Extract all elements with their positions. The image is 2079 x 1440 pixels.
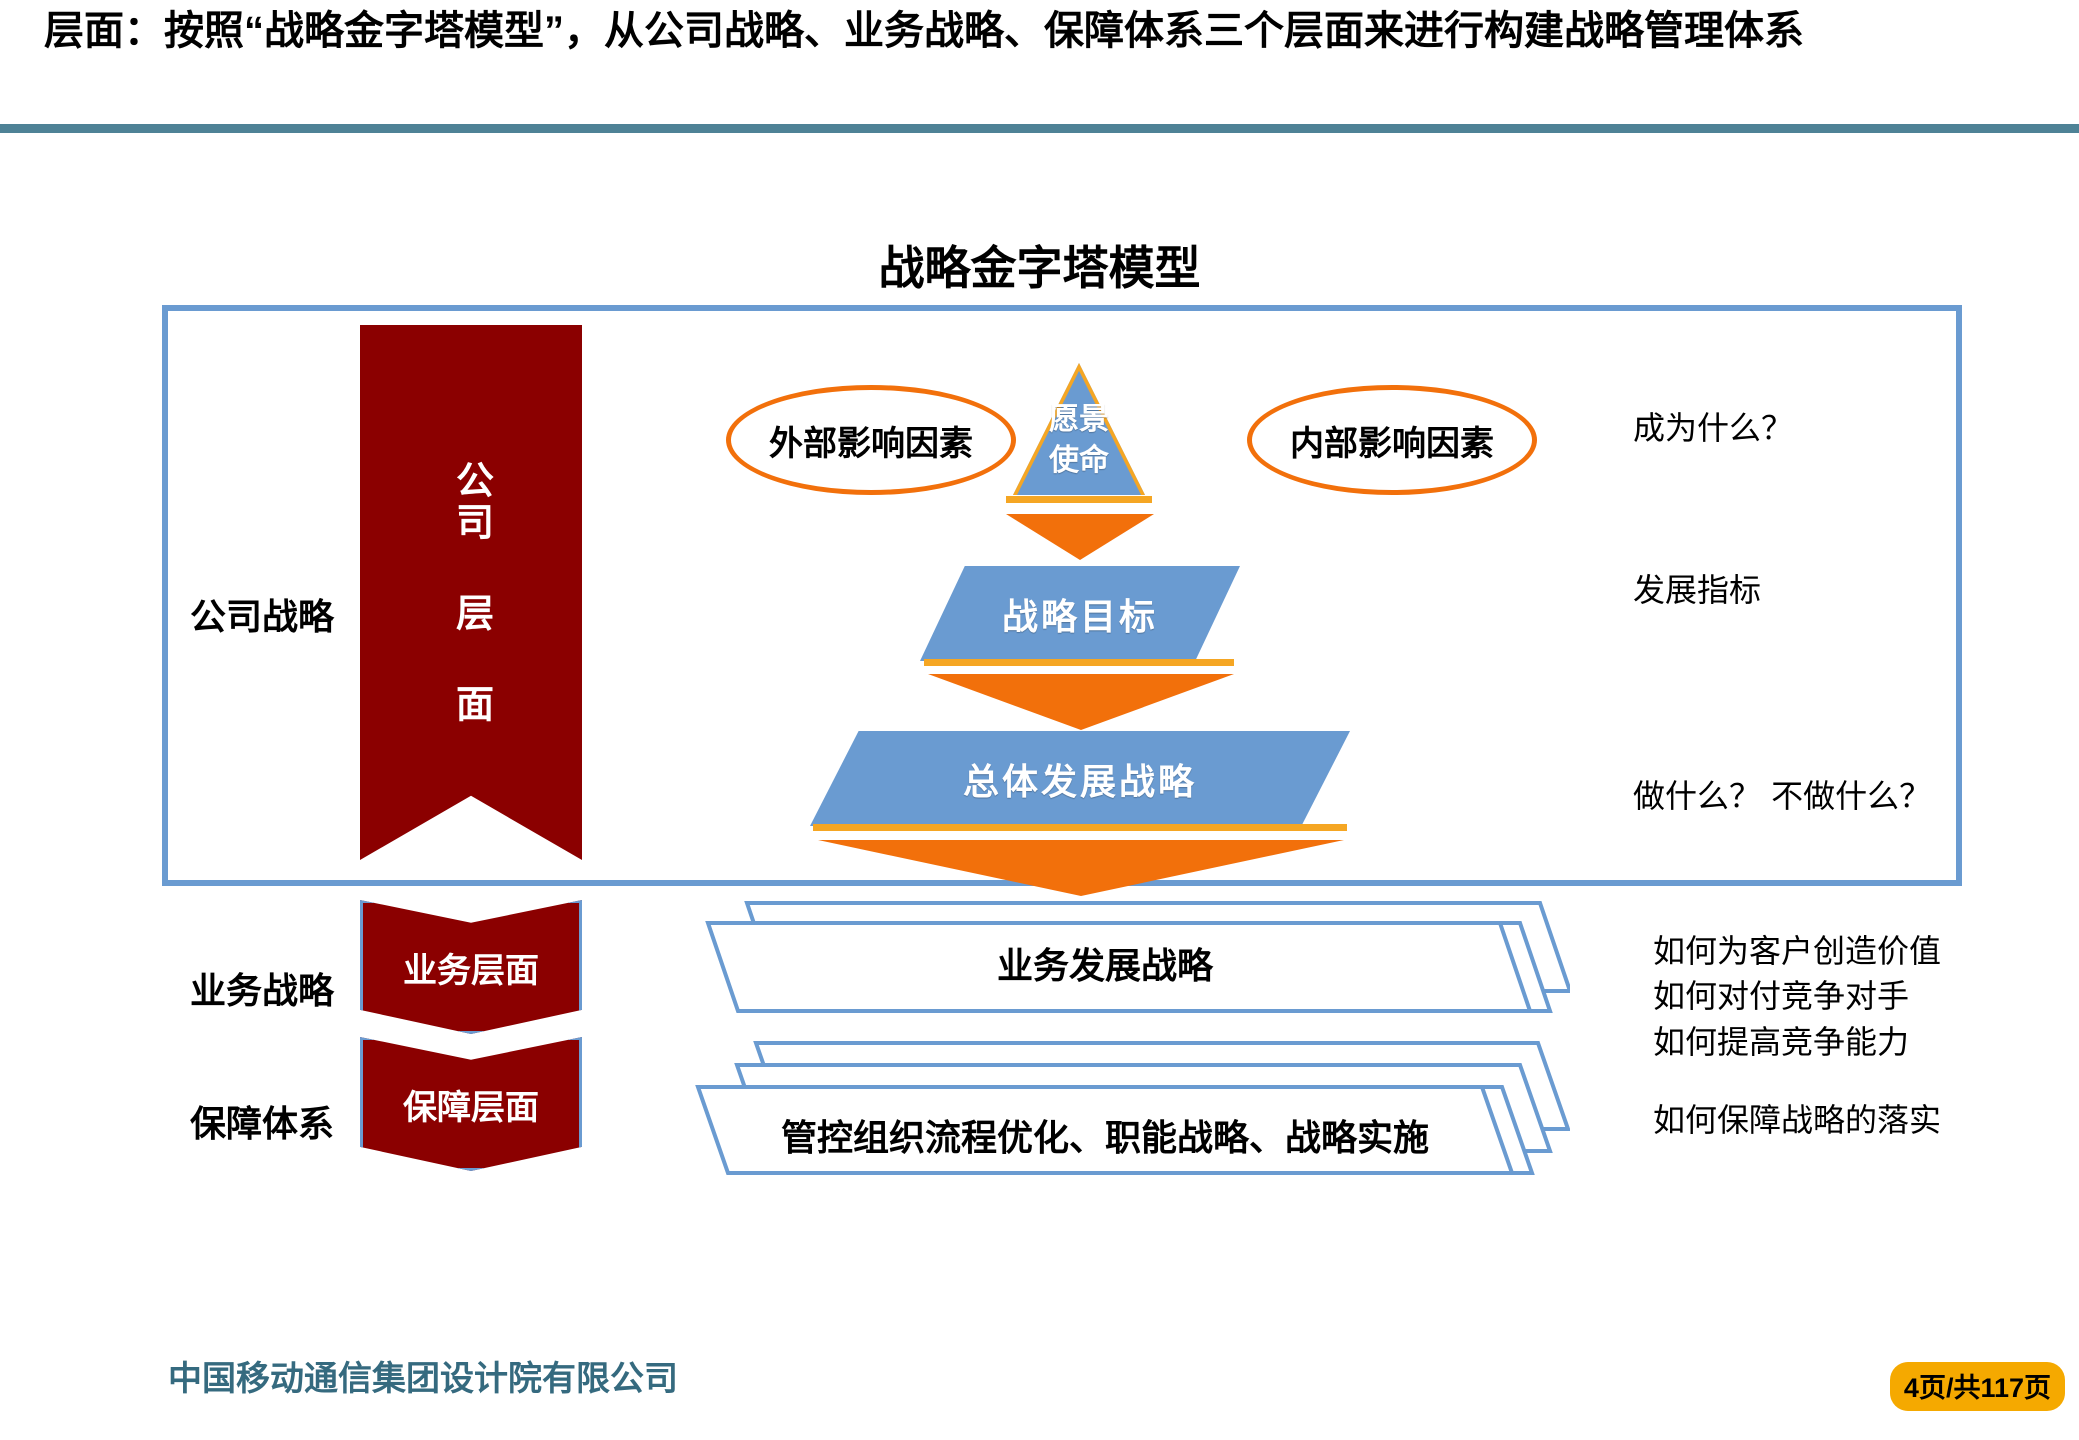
external-factors-oval: 外部影响因素 — [726, 385, 1016, 495]
business-development-strategy-label: 业务发展战略 — [640, 937, 1570, 989]
company-level-banner-label: 公司 层 面 — [360, 325, 582, 860]
business-development-strategy-stack: 业务发展战略 — [640, 893, 1570, 1021]
figure-title: 战略金字塔模型 — [0, 232, 2079, 298]
internal-factors-oval: 内部影响因素 — [1247, 385, 1537, 495]
pyramid-tier-2-base-bar — [813, 824, 1347, 831]
pyramid-apex-label: 愿景 使命 — [1013, 400, 1145, 481]
pyramid-tier-overall-development-strategy-label: 总体发展战略 — [963, 753, 1197, 805]
note-development-indicators: 发展指标 — [1633, 568, 1761, 613]
row-label-support-system: 保障体系 — [190, 1095, 334, 1147]
company-level-banner: 公司 层 面 — [360, 325, 582, 860]
support-system-strategy-stack: 管控组织流程优化、职能战略、战略实施 — [640, 1037, 1570, 1185]
pyramid-tier-strategic-goal: 战略目标 — [920, 566, 1240, 661]
support-level-chevron: 保障层面 — [360, 1037, 582, 1171]
row-label-business-strategy: 业务战略 — [190, 962, 334, 1014]
support-system-strategy-label: 管控组织流程优化、职能战略、战略实施 — [640, 1109, 1570, 1161]
page-number-badge: 4页/共117页 — [1890, 1362, 2065, 1411]
business-level-chevron: 业务层面 — [360, 900, 582, 1034]
note-become-what: 成为什么？ — [1633, 406, 1793, 451]
page-title: 层面：按照“战略金字塔模型”，从公司战略、业务战略、保障体系三个层面来进行构建战… — [44, 4, 2004, 59]
support-level-label: 保障层面 — [403, 1080, 539, 1129]
note-customer-value: 如何为客户创造价值 如何对付竞争对手 如何提高竞争能力 — [1653, 929, 1941, 1065]
note-what-to-do: 做什么？ 不做什么？ — [1633, 774, 1931, 819]
title-divider — [0, 124, 2079, 133]
pyramid-tier-strategic-goal-label: 战略目标 — [1002, 588, 1158, 640]
pyramid-tier-1-base-bar — [924, 659, 1234, 666]
internal-factors-label: 内部影响因素 — [1290, 416, 1494, 465]
business-level-label: 业务层面 — [403, 943, 539, 992]
footer-organization: 中国移动通信集团设计院有限公司 — [168, 1351, 678, 1400]
external-factors-label: 外部影响因素 — [769, 416, 973, 465]
pyramid-apex-base-bar — [1006, 496, 1152, 503]
note-strategy-execution: 如何保障战略的落实 — [1653, 1098, 1941, 1143]
row-label-company-strategy: 公司战略 — [190, 588, 334, 640]
pyramid-tier-overall-development-strategy: 总体发展战略 — [810, 731, 1350, 826]
